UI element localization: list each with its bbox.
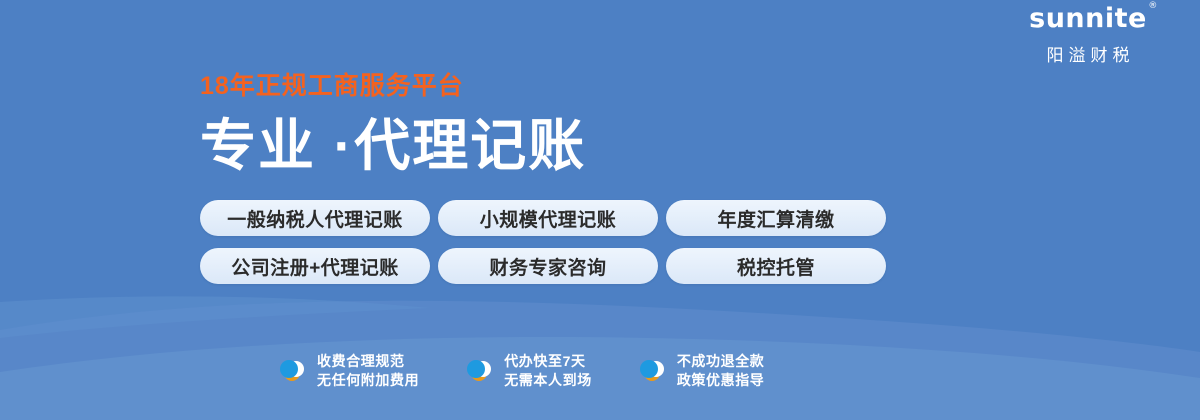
feature-line-2: 无需本人到场 — [504, 371, 592, 390]
logo-wordmark: sunnite ® — [1029, 4, 1147, 34]
page-title: 专业 ·代理记账 — [200, 118, 960, 174]
feature-text: 收费合理规范 无任何附加费用 — [317, 352, 419, 390]
feature-list: 收费合理规范 无任何附加费用 代办快至7天 无需本人到场 — [276, 352, 764, 390]
feature-line-1: 收费合理规范 — [317, 353, 405, 369]
feature-line-1: 代办快至7天 — [504, 353, 585, 369]
feature-text: 不成功退全款 政策优惠指导 — [677, 352, 765, 390]
overlapping-circles-icon — [276, 355, 308, 387]
service-pill[interactable]: 税控托管 — [666, 248, 886, 284]
service-pill[interactable]: 年度汇算清缴 — [666, 200, 886, 236]
eyebrow-text: 18年正规工商服务平台 — [200, 74, 960, 102]
service-pill-row: 一般纳税人代理记账 小规模代理记账 年度汇算清缴 — [200, 200, 910, 236]
logo-wordmark-text: sunnite — [1029, 3, 1147, 34]
service-pill-grid: 一般纳税人代理记账 小规模代理记账 年度汇算清缴 公司注册+代理记账 财务专家咨… — [200, 200, 910, 296]
registered-trademark-icon: ® — [1148, 2, 1158, 12]
brand-logo[interactable]: sunnite ® 阳溢财税 — [998, 4, 1178, 66]
feature-line-2: 政策优惠指导 — [677, 371, 765, 390]
service-pill[interactable]: 公司注册+代理记账 — [200, 248, 430, 284]
overlapping-circles-icon — [463, 355, 495, 387]
overlapping-circles-icon — [636, 355, 668, 387]
feature-item: 不成功退全款 政策优惠指导 — [636, 352, 765, 390]
feature-item: 收费合理规范 无任何附加费用 — [276, 352, 419, 390]
service-pill[interactable]: 小规模代理记账 — [438, 200, 658, 236]
service-pill[interactable]: 财务专家咨询 — [438, 248, 658, 284]
feature-text: 代办快至7天 无需本人到场 — [504, 352, 592, 390]
promo-banner: sunnite ® 阳溢财税 18年正规工商服务平台 专业 ·代理记账 一般纳税… — [0, 0, 1200, 420]
feature-line-1: 不成功退全款 — [677, 353, 765, 369]
service-pill[interactable]: 一般纳税人代理记账 — [200, 200, 430, 236]
headline-block: 18年正规工商服务平台 专业 ·代理记账 — [200, 74, 960, 174]
feature-line-2: 无任何附加费用 — [317, 371, 419, 390]
logo-chinese-name: 阳溢财税 — [998, 41, 1178, 66]
feature-item: 代办快至7天 无需本人到场 — [463, 352, 592, 390]
service-pill-row: 公司注册+代理记账 财务专家咨询 税控托管 — [200, 248, 910, 284]
